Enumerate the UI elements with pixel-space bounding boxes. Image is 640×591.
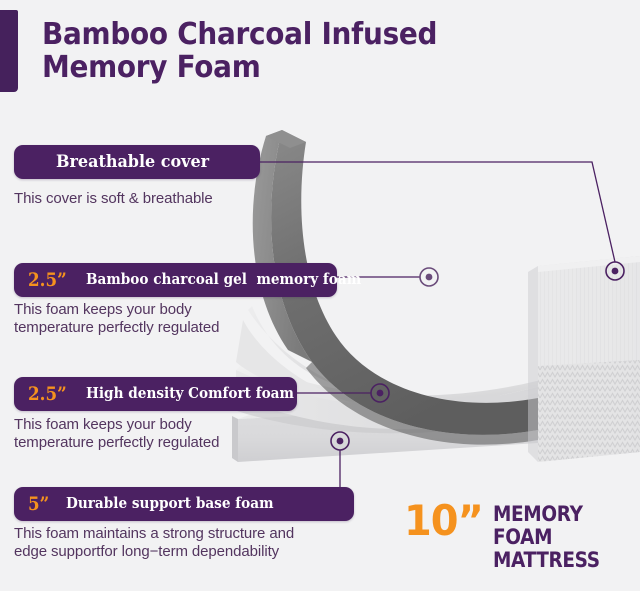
page-title: Bamboo Charcoal Infused Memory Foam [42,18,479,84]
badge-bamboo-charcoal-gel[interactable]: 2.5” Bamboo charcoal gel memory foam [14,263,337,297]
mattress-infographic: Bamboo Charcoal Infused Memory Foam Brea… [0,0,640,591]
breathable-cover-panel [528,256,640,462]
marker-gel-icon [420,268,438,286]
measure-comfort: 2.5” [28,385,67,404]
badge-durable-support-base-foam[interactable]: 5” Durable support base foam [14,487,354,521]
marker-comfort-icon [371,384,389,402]
measure-base: 5” [28,495,49,514]
badge-label-cover: Breathable cover [56,154,209,170]
measure-gel: 2.5” [28,271,67,290]
badge-label-comfort: High density Comfort foam [86,386,294,402]
description-gel: This foam keeps your body temperature pe… [14,301,344,337]
title-accent-bar [0,10,18,92]
badge-high-density-comfort-foam[interactable]: 2.5” High density Comfort foam [14,377,297,411]
description-base: This foam maintains a strong structure a… [14,525,374,561]
layer-markers [331,262,624,450]
badge-label-gel: Bamboo charcoal gel memory foam [86,272,361,288]
badge-breathable-cover[interactable]: Breathable cover [14,145,260,179]
marker-cover-icon [606,262,624,280]
size-callout: 10” MEMORY FOAM MATTRESS [404,501,640,572]
description-cover: This cover is soft & breathable [14,190,344,208]
size-callout-number: 10” [404,501,483,541]
leader-line-cover [260,162,615,262]
size-callout-words: MEMORY FOAM MATTRESS [493,503,622,572]
badge-label-base: Durable support base foam [66,496,273,512]
description-comfort: This foam keeps your body temperature pe… [14,416,344,452]
